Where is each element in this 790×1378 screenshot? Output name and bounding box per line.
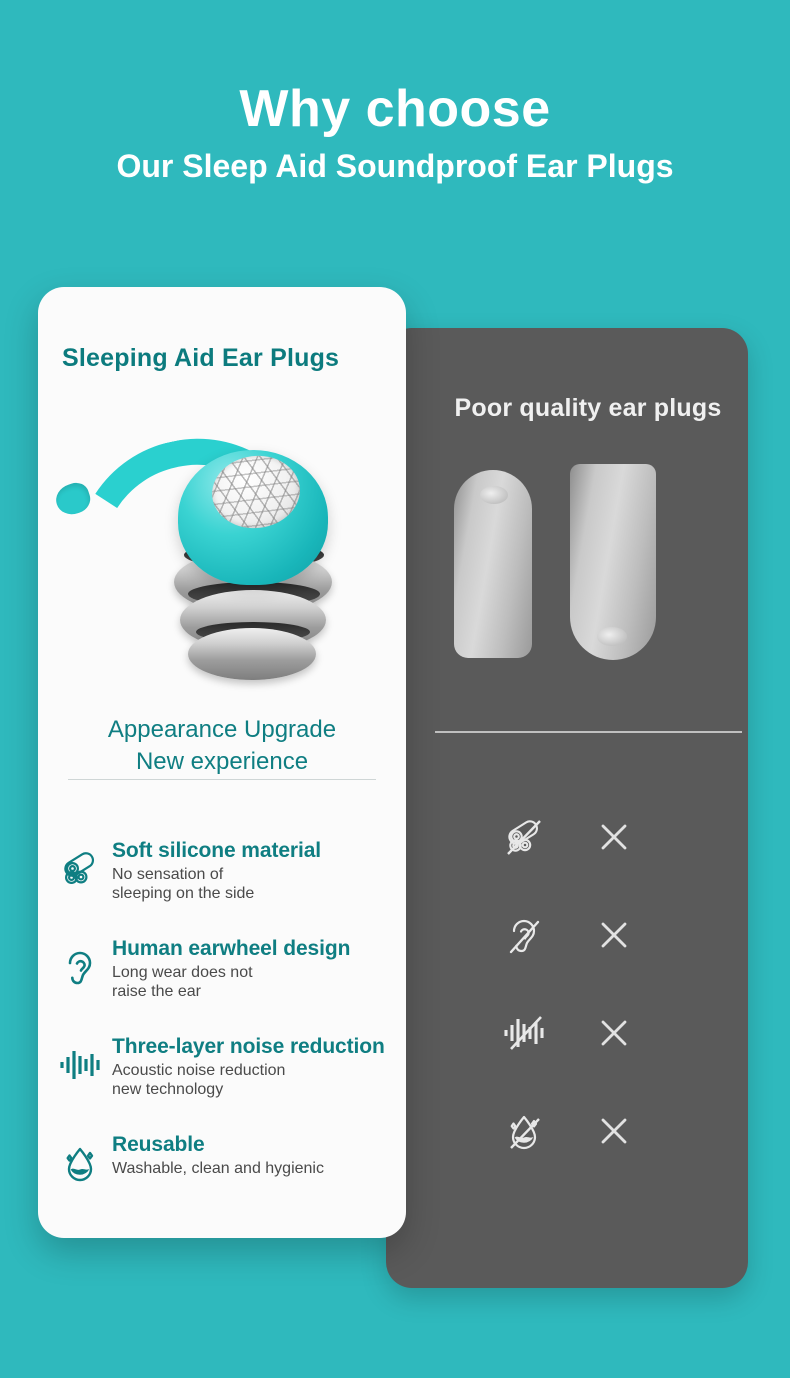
- feature-item-noise: Three-layer noise reduction Acoustic noi…: [38, 1033, 406, 1131]
- poor-row-ear: [386, 886, 748, 984]
- poor-row-noise: [386, 984, 748, 1082]
- feature-item-reusable: Reusable Washable, clean and hygienic: [38, 1131, 406, 1229]
- x-mark-icon: [554, 820, 674, 854]
- silicone-tubes-crossed-icon: [494, 808, 554, 866]
- feature-item-silicone: Soft silicone material No sensation of s…: [38, 837, 406, 935]
- card-title: Sleeping Aid Ear Plugs: [62, 344, 339, 373]
- feature-title: Three-layer noise reduction: [112, 1035, 385, 1059]
- appearance-line2: New experience: [38, 746, 406, 778]
- feature-text: Soft silicone material No sensation of s…: [106, 837, 321, 903]
- feature-title: Human earwheel design: [112, 937, 350, 961]
- water-drop-icon: [54, 1137, 106, 1189]
- feature-text: Reusable Washable, clean and hygienic: [106, 1131, 324, 1179]
- poor-quality-rows: [386, 788, 748, 1180]
- infographic-page: Why choose Our Sleep Aid Soundproof Ear …: [0, 0, 790, 1378]
- appearance-upgrade-text: Appearance Upgrade New experience: [38, 714, 406, 778]
- product-bulb: [178, 450, 328, 585]
- x-mark-icon: [554, 1114, 674, 1148]
- sleeping-aid-card: Sleeping Aid Ear Plugs Appearance Upgrad…: [38, 287, 406, 1238]
- feature-subtitle: Long wear does not raise the ear: [112, 964, 350, 1001]
- poor-quality-title: Poor quality ear plugs: [386, 394, 748, 423]
- appearance-line1: Appearance Upgrade: [38, 714, 406, 746]
- feature-text: Three-layer noise reduction Acoustic noi…: [106, 1033, 385, 1099]
- feature-list: Soft silicone material No sensation of s…: [38, 837, 406, 1229]
- x-mark-icon: [554, 918, 674, 952]
- foam-plug-left: [454, 470, 532, 658]
- page-header: Why choose Our Sleep Aid Soundproof Ear …: [0, 0, 790, 184]
- poor-quality-panel: Poor quality ear plugs: [386, 328, 748, 1288]
- product-image: [48, 432, 396, 687]
- header-title-line1: Why choose: [0, 82, 790, 137]
- feature-text: Human earwheel design Long wear does not…: [106, 935, 350, 1001]
- x-mark-icon: [554, 1016, 674, 1050]
- silicone-tubes-icon: [54, 843, 106, 895]
- card-divider: [68, 779, 376, 780]
- product-mesh-cap: [208, 451, 304, 533]
- feature-subtitle: Acoustic noise reduction new technology: [112, 1062, 385, 1099]
- foam-ear-plugs-image: [428, 456, 748, 671]
- panel-divider: [435, 731, 742, 733]
- water-drop-crossed-icon: [494, 1102, 554, 1160]
- poor-row-reusable: [386, 1082, 748, 1180]
- feature-title: Soft silicone material: [112, 839, 321, 863]
- feature-subtitle: No sensation of sleeping on the side: [112, 866, 321, 903]
- feature-subtitle: Washable, clean and hygienic: [112, 1160, 324, 1179]
- ear-crossed-icon: [494, 906, 554, 964]
- feature-item-earwheel: Human earwheel design Long wear does not…: [38, 935, 406, 1033]
- poor-row-silicone: [386, 788, 748, 886]
- foam-plug-right: [570, 464, 656, 660]
- feature-title: Reusable: [112, 1133, 324, 1157]
- sound-wave-icon: [54, 1039, 106, 1091]
- product-flange-3: [188, 628, 316, 680]
- header-title-line2: Our Sleep Aid Soundproof Ear Plugs: [0, 149, 790, 184]
- ear-icon: [54, 941, 106, 993]
- sound-wave-crossed-icon: [494, 1004, 554, 1062]
